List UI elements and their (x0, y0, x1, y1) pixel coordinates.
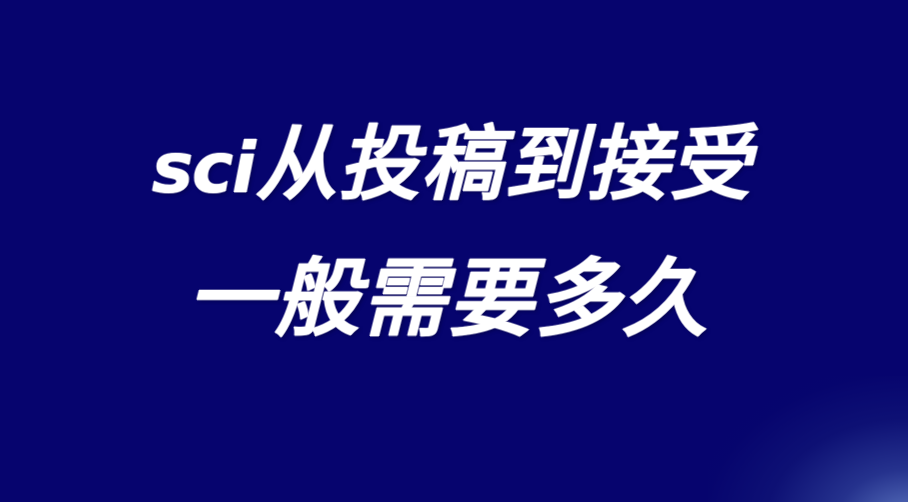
headline-line-1-cjk: 从投稿到接受 (256, 124, 753, 205)
headline-line-2: 一般需要多久 (187, 257, 708, 342)
headline-line-1: sci从投稿到接受 (152, 124, 753, 206)
headline-block: sci从投稿到接受 一般需要多久 (0, 0, 908, 502)
headline-line-2-cjk: 一般需要多久 (187, 257, 708, 342)
headline-line-1-latin: sci (152, 134, 255, 204)
poster-canvas: sci从投稿到接受 一般需要多久 (0, 0, 908, 502)
